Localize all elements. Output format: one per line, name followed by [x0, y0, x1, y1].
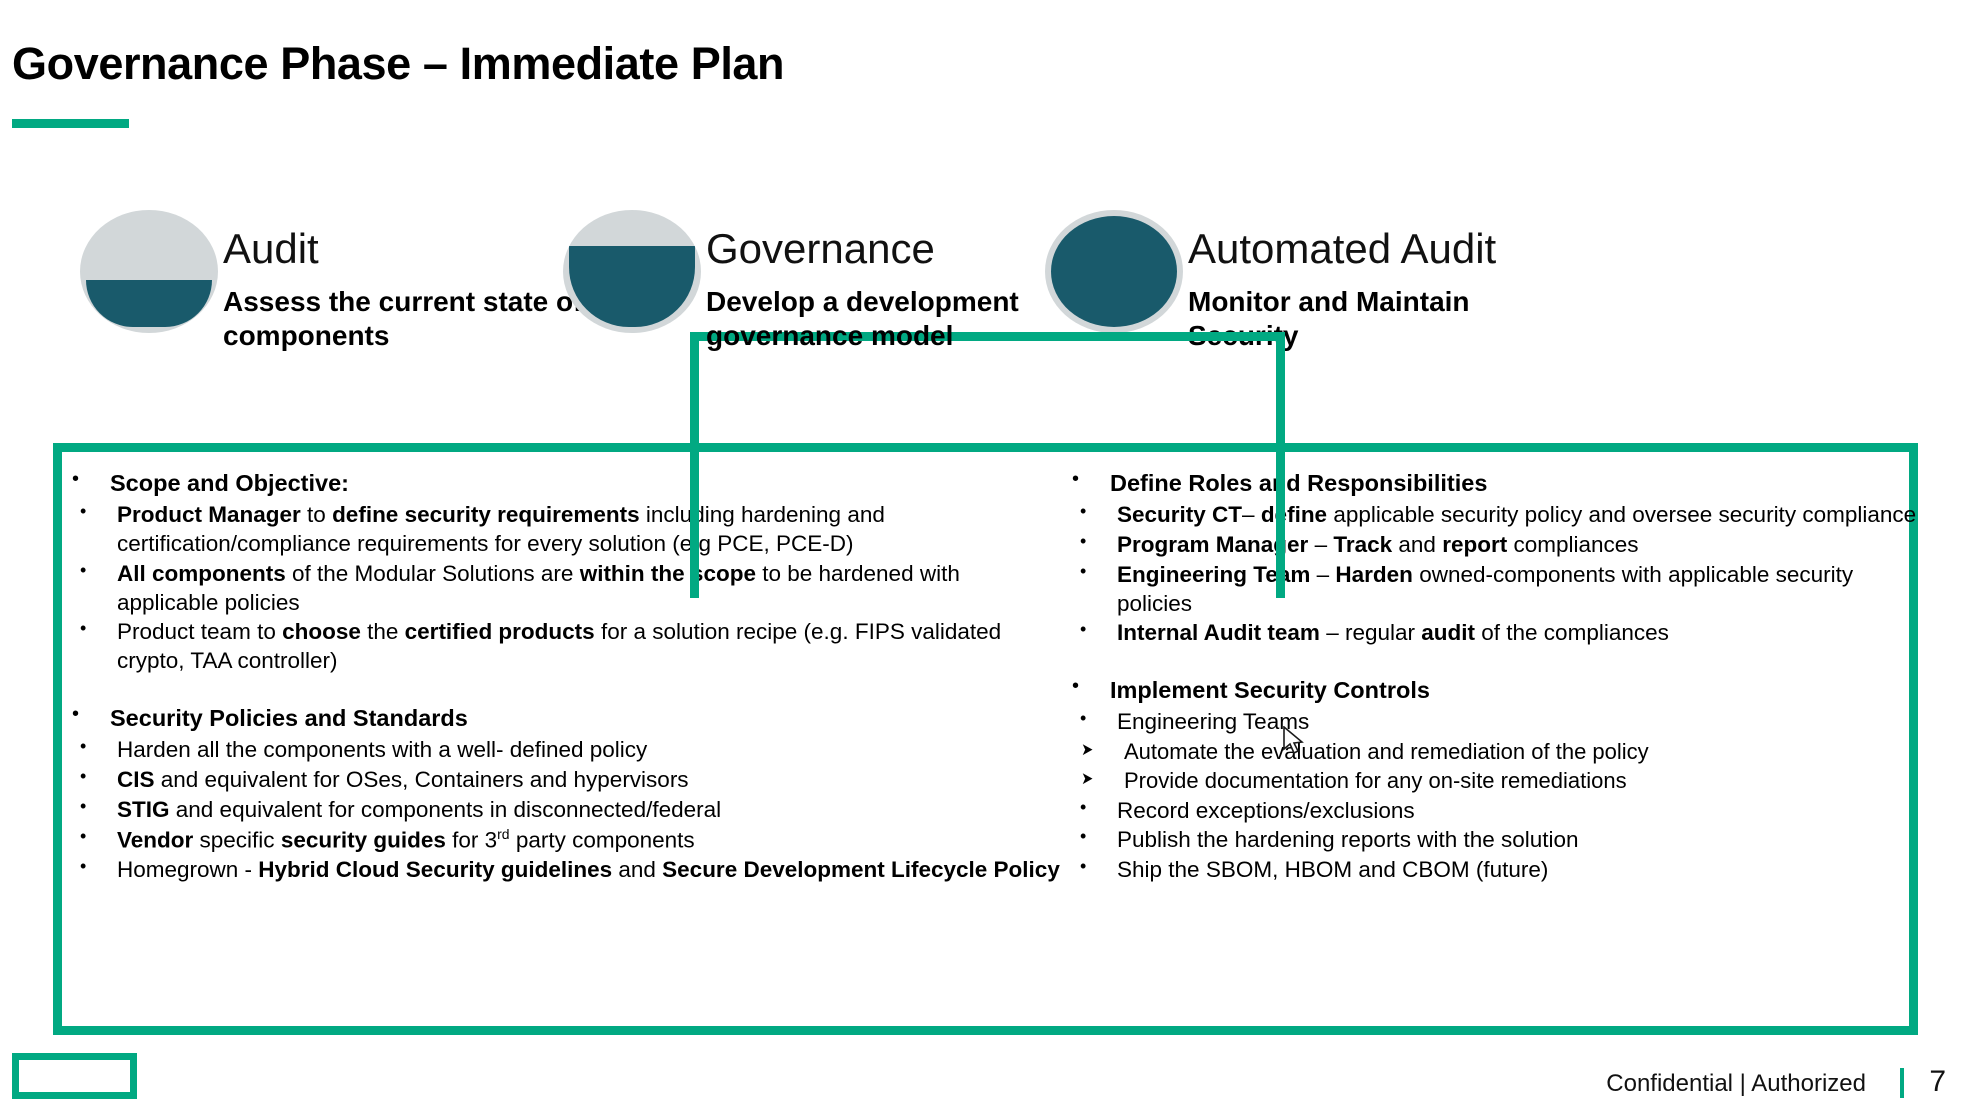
list-item-heading: Implement Security Controls — [1062, 675, 1922, 706]
section-spacer — [1062, 649, 1922, 675]
half-filled-circle-icon — [80, 210, 218, 333]
footer-separator — [1900, 1068, 1904, 1098]
list-item: Homegrown - Hybrid Cloud Security guidel… — [62, 856, 1062, 885]
phase-automated-audit-name: Automated Audit — [1188, 225, 1496, 273]
phase-governance-name: Governance — [706, 225, 935, 273]
list-item: Internal Audit team – regular audit of t… — [1062, 619, 1922, 648]
security-policies-sublist: Harden all the components with a well- d… — [62, 736, 1062, 884]
phase-header-strip: Audit Assess the current state of compon… — [0, 150, 1976, 450]
list-item: Publish the hardening reports with the s… — [1062, 826, 1922, 855]
list-item-heading: Security Policies and Standards — [62, 703, 1062, 734]
list-item: Vendor specific security guides for 3rd … — [62, 826, 1062, 855]
list-item: Record exceptions/exclusions — [1062, 797, 1922, 826]
list-item: Harden all the components with a well- d… — [62, 736, 1062, 765]
security-policies-subsublist: CIS and equivalent for OSes, Containers … — [62, 766, 1062, 885]
list-item: STIG and equivalent for components in di… — [62, 796, 1062, 825]
implement-controls-sublist: Engineering Teams Automate the evaluatio… — [1062, 708, 1922, 885]
phase-governance-description: Develop a development governance model — [706, 285, 1106, 353]
circle-fill — [86, 280, 212, 327]
list-item: Engineering Teams — [1062, 708, 1922, 737]
phase-audit-description: Assess the current state of components — [223, 285, 623, 353]
list-item-arrow: Automate the evaluation and remediation … — [1062, 738, 1922, 766]
list-item: Ship the SBOM, HBOM and CBOM (future) — [1062, 856, 1922, 885]
engineering-teams-arrow-list: Automate the evaluation and remediation … — [1062, 738, 1922, 795]
section-spacer — [62, 677, 1062, 703]
phase-audit-name: Audit — [223, 225, 319, 273]
title-accent-rule — [12, 119, 129, 128]
two-thirds-filled-circle-icon — [563, 210, 701, 333]
page-number: 7 — [1929, 1065, 1946, 1099]
hpe-logo-icon — [12, 1053, 137, 1099]
page-title: Governance Phase – Immediate Plan — [12, 38, 784, 90]
governance-highlight-frame — [690, 332, 1285, 598]
confidentiality-label: Confidential | Authorized — [1606, 1070, 1866, 1098]
circle-fill — [569, 246, 695, 327]
list-item: CIS and equivalent for OSes, Containers … — [62, 766, 1062, 795]
list-item: Product team to choose the certified pro… — [62, 618, 1062, 676]
list-item-arrow: Provide documentation for any on-site re… — [1062, 767, 1922, 795]
